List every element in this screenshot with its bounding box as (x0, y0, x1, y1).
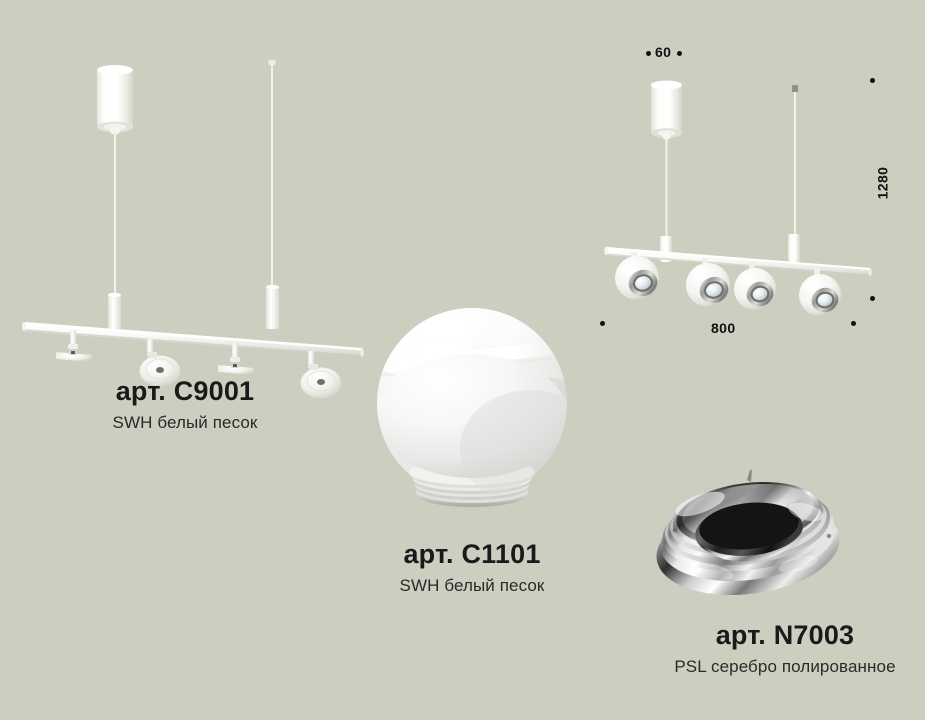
ceiling-canopy-icon-2 (651, 81, 682, 140)
cable-collar-right (266, 285, 279, 329)
product-label-n7003: арт. N7003 PSL серебро полированное (635, 622, 925, 675)
dimension-label-bar-length: 800 (711, 320, 736, 336)
dimension-dot-length-left (600, 321, 605, 326)
spot-lamp-4 (799, 268, 841, 316)
product-finish-c9001: SWH белый песок (35, 414, 335, 431)
product-illustration-c1101 (355, 298, 590, 528)
product-article-c1101: арт. C1101 (322, 541, 622, 568)
suspension-cable-right (271, 62, 273, 294)
dimension-dot-length-right (851, 321, 856, 326)
sphere-shade-body (350, 296, 611, 532)
product-finish-n7003: PSL серебро полированное (635, 658, 925, 675)
dimension-dot-height-bottom (870, 296, 875, 301)
suspension-cable-left-2 (666, 136, 668, 246)
ceiling-canopy-icon (97, 65, 133, 135)
product-label-c9001: арт. C9001 SWH белый песок (35, 378, 335, 431)
chrome-ring-body (651, 470, 845, 605)
product-illustration-n7003 (648, 468, 858, 608)
cable-collar-right-2 (788, 234, 800, 266)
dimension-dot-canopy-left (646, 51, 651, 56)
suspension-cable-right-2 (794, 88, 796, 240)
product-illustration-c9001 (10, 30, 380, 360)
product-sheet-page: арт. C9001 SWH белый песок (0, 0, 925, 720)
product-article-n7003: арт. N7003 (635, 622, 925, 649)
dimension-label-canopy-diameter: 60 (655, 44, 671, 60)
spot-lamp-3 (734, 262, 776, 310)
dimension-label-suspension-height: 1280 (874, 167, 890, 200)
dimension-dot-canopy-right (677, 51, 682, 56)
spot-lamp-2 (686, 258, 732, 307)
spot-lamp-1 (615, 252, 661, 300)
assembly-dimension-drawing (590, 40, 910, 340)
cable-collar-left (108, 293, 121, 330)
product-finish-c1101: SWH белый песок (322, 577, 622, 594)
dimension-dot-height-top (870, 78, 875, 83)
product-label-c1101: арт. C1101 SWH белый песок (322, 541, 622, 594)
product-article-c9001: арт. C9001 (35, 378, 335, 405)
